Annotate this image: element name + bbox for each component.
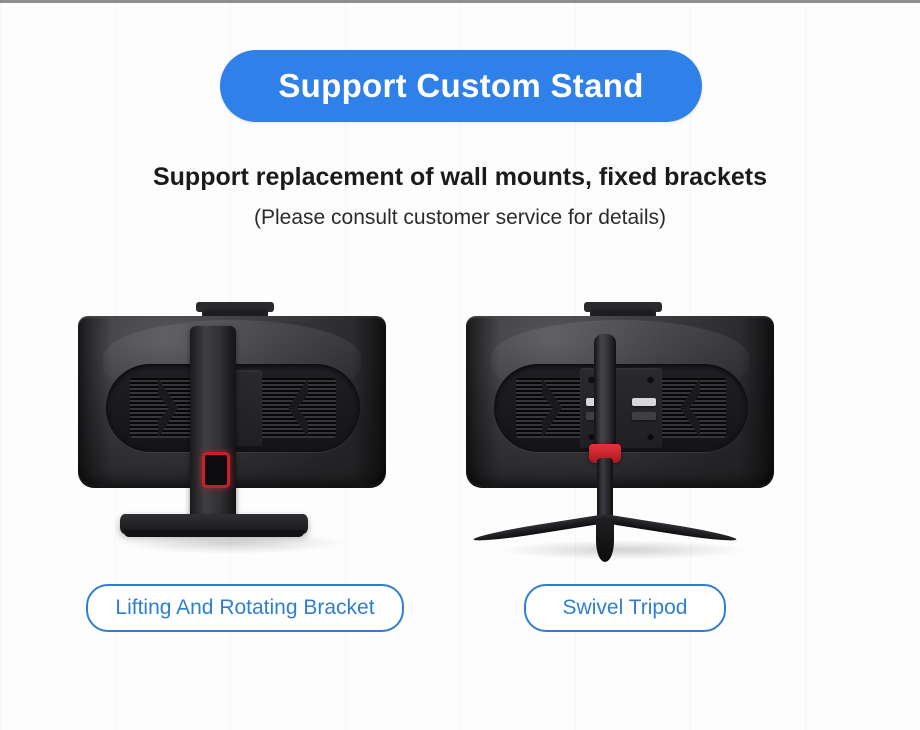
caption-pill-lifting-rotating-bracket: Lifting And Rotating Bracket <box>86 584 404 632</box>
top-divider-rule <box>0 0 920 3</box>
floor-shadow <box>498 540 748 560</box>
page-note: (Please consult customer service for det… <box>0 206 920 230</box>
product-lifting-rotating-bracket: Lifting And Rotating Bracket <box>60 296 440 566</box>
product-image-swivel-tripod <box>450 296 830 566</box>
vent-chevron <box>158 378 178 438</box>
caption-pill-swivel-tripod: Swivel Tripod <box>524 584 726 632</box>
caption-label: Swivel Tripod <box>563 596 688 620</box>
vent-recess-panel <box>494 364 748 452</box>
caption-label: Lifting And Rotating Bracket <box>115 596 374 620</box>
header-badge-label: Support Custom Stand <box>278 67 643 105</box>
header-badge: Support Custom Stand <box>220 50 702 122</box>
vent-chevron <box>542 378 562 438</box>
stand-column <box>190 326 236 522</box>
product-image-lifting-rotating-bracket <box>60 296 440 566</box>
page-subtitle: Support replacement of wall mounts, fixe… <box>0 163 920 192</box>
vent-chevron <box>680 378 700 438</box>
vent-chevron <box>288 378 308 438</box>
tripod-leg-center <box>596 520 614 562</box>
vesa-adjust-slot <box>632 412 656 420</box>
stand-base-front-edge <box>124 530 304 537</box>
vesa-adjust-slot <box>632 398 656 406</box>
vesa-screw-hole <box>647 433 654 440</box>
product-swivel-tripod: Swivel Tripod <box>450 296 830 566</box>
vesa-screw-hole <box>647 376 654 383</box>
cable-slot-accent <box>202 452 230 488</box>
vesa-mount-plate <box>580 368 662 448</box>
product-feature-panel: Support Custom Stand Support replacement… <box>0 0 920 730</box>
vent-grille-right <box>250 378 336 438</box>
